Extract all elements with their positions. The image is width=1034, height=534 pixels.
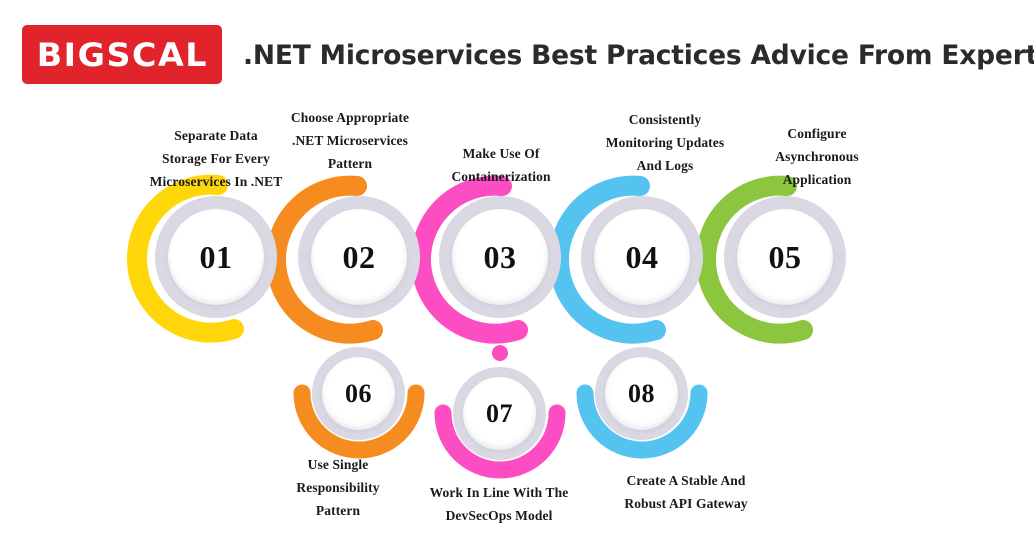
step-label-08-line2: Robust API Gateway — [578, 492, 794, 515]
step-node-05[interactable]: 05 — [724, 196, 846, 318]
step-label-08-line1: Create A Stable And — [578, 469, 794, 492]
connector-dot-02-06 — [351, 324, 367, 340]
step-number-04: 04 — [626, 239, 659, 276]
step-number-06: 06 — [345, 379, 372, 409]
step-label-05-line1: Configure — [707, 122, 927, 145]
step-number-02: 02 — [343, 239, 376, 276]
connector-dot-03-07 — [492, 345, 508, 361]
step-node-07[interactable]: 07 — [453, 367, 546, 460]
step-number-05: 05 — [769, 239, 802, 276]
step-number-01: 01 — [200, 239, 233, 276]
step-number-03: 03 — [484, 239, 517, 276]
step-label-08: Create A Stable And Robust API Gateway — [578, 469, 794, 515]
step-number-08: 08 — [628, 379, 655, 409]
step-node-08[interactable]: 08 — [595, 347, 688, 440]
step-label-05: Configure Asynchronous Application — [707, 122, 927, 192]
step-node-01[interactable]: 01 — [155, 196, 277, 318]
step-node-04[interactable]: 04 — [581, 196, 703, 318]
step-label-05-line2: Asynchronous — [707, 145, 927, 168]
step-number-07: 07 — [486, 399, 513, 429]
step-node-03[interactable]: 03 — [439, 196, 561, 318]
infographic-canvas: 01 02 03 04 05 06 07 08 Separate Data St… — [0, 0, 1034, 534]
step-label-05-line3: Application — [707, 168, 927, 191]
step-node-02[interactable]: 02 — [298, 196, 420, 318]
step-label-02-line1: Choose Appropriate — [220, 106, 480, 129]
step-node-06[interactable]: 06 — [312, 347, 405, 440]
step-label-06-line1: Use Single — [243, 453, 433, 476]
connector-dot-04-08 — [633, 324, 649, 340]
